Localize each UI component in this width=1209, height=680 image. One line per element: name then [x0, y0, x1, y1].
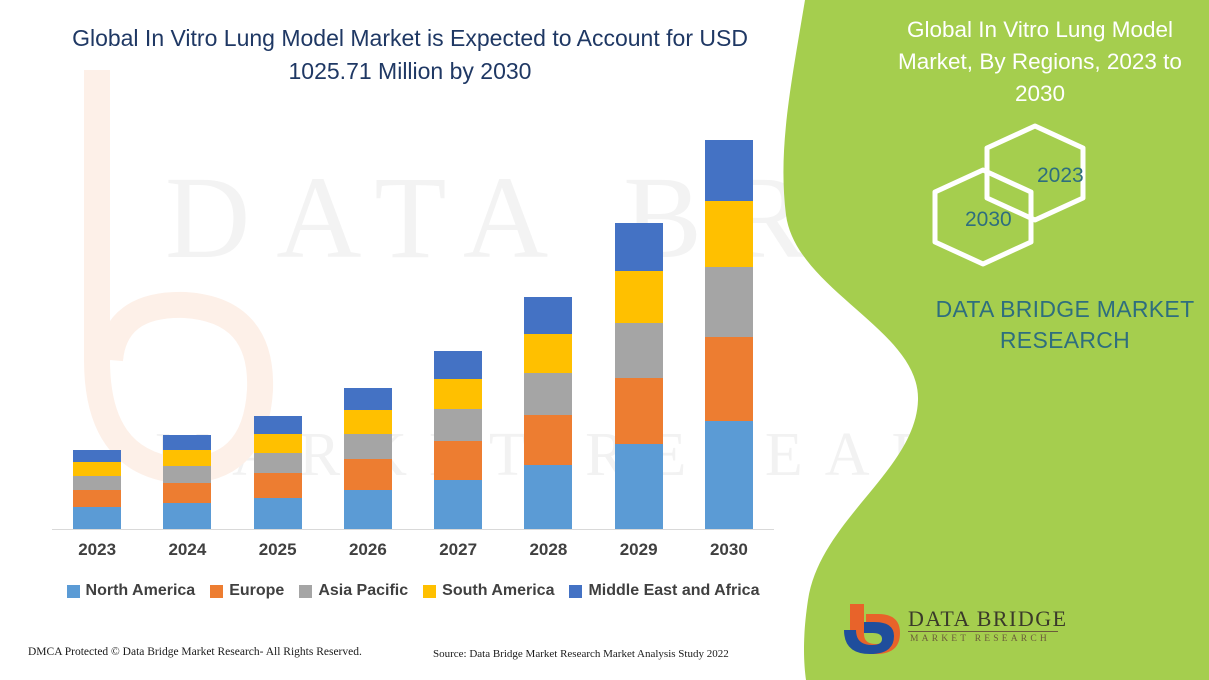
x-axis-label-2025: 2025 — [233, 540, 323, 560]
bar-segment — [344, 490, 392, 529]
x-axis-label-2028: 2028 — [503, 540, 593, 560]
bar-segment — [73, 462, 121, 475]
hexagon-label-2030: 2030 — [965, 208, 1012, 232]
x-axis-label-2029: 2029 — [594, 540, 684, 560]
legend-label: Asia Pacific — [318, 582, 408, 600]
bar-segment — [434, 409, 482, 441]
stacked-bar-2027 — [434, 351, 482, 529]
bar-column — [594, 223, 684, 529]
stacked-bar-2030 — [705, 140, 753, 529]
stacked-bar-2024 — [163, 435, 211, 529]
bar-segment — [434, 379, 482, 409]
bar-segment — [254, 498, 302, 529]
panel-title: Global In Vitro Lung Model Market, By Re… — [880, 14, 1200, 110]
bar-segment — [344, 434, 392, 459]
page-title: Global In Vitro Lung Model Market is Exp… — [40, 22, 780, 88]
bar-segment — [254, 434, 302, 453]
stacked-bar-2026 — [344, 388, 392, 529]
bar-segment — [705, 421, 753, 529]
legend-item-north-america[interactable]: North America — [67, 582, 196, 600]
bar-segment — [524, 373, 572, 415]
infographic-root: DATA BRIDGE MARKET RESEARCH Global In Vi… — [0, 0, 1209, 680]
bar-segment — [705, 140, 753, 201]
legend-label: Middle East and Africa — [588, 582, 759, 600]
bar-segment — [615, 271, 663, 323]
bar-segment — [524, 297, 572, 333]
bar-segment — [163, 483, 211, 503]
bar-segment — [73, 476, 121, 490]
bar-segment — [73, 490, 121, 507]
hexagon-badges — [925, 118, 1125, 273]
bar-segment — [73, 450, 121, 462]
bar-segment — [254, 473, 302, 498]
stacked-bar-2028 — [524, 297, 572, 529]
bar-segment — [73, 507, 121, 529]
logo-mark-icon — [840, 600, 902, 658]
bar-segment — [344, 410, 392, 434]
stacked-bar-2025 — [254, 416, 302, 529]
bar-column — [233, 416, 323, 529]
legend-label: South America — [442, 582, 554, 600]
legend-item-south-america[interactable]: South America — [423, 582, 554, 600]
stacked-bar-2023 — [73, 450, 121, 529]
bar-segment — [163, 450, 211, 466]
footer-copyright: DMCA Protected © Data Bridge Market Rese… — [28, 646, 362, 658]
bar-segment — [615, 323, 663, 378]
legend-swatch-icon — [67, 585, 80, 598]
legend-swatch-icon — [569, 585, 582, 598]
x-axis-label-2026: 2026 — [323, 540, 413, 560]
bar-segment — [615, 444, 663, 529]
legend-swatch-icon — [210, 585, 223, 598]
stacked-bar-2029 — [615, 223, 663, 529]
bar-chart-plot — [52, 140, 774, 529]
bar-segment — [615, 378, 663, 445]
logo-subtext: MARKET RESEARCH — [910, 634, 1050, 644]
chart-legend: North AmericaEuropeAsia PacificSouth Ame… — [52, 582, 774, 600]
bar-column — [52, 450, 142, 529]
bar-segment — [163, 435, 211, 450]
bar-column — [323, 388, 413, 529]
legend-item-europe[interactable]: Europe — [210, 582, 284, 600]
bar-segment — [163, 503, 211, 529]
x-axis-label-2024: 2024 — [142, 540, 232, 560]
bar-segment — [434, 480, 482, 529]
x-axis-labels: 20232024202520262027202820292030 — [52, 540, 774, 560]
bar-column — [413, 351, 503, 529]
bar-segment — [434, 441, 482, 480]
bar-segment — [705, 267, 753, 337]
logo-divider — [908, 631, 1058, 632]
legend-swatch-icon — [423, 585, 436, 598]
bar-segment — [524, 415, 572, 465]
logo-text: DATA BRIDGE — [908, 606, 1068, 632]
bar-segment — [254, 416, 302, 434]
bar-segment — [163, 466, 211, 483]
bar-segment — [705, 201, 753, 267]
legend-label: North America — [86, 582, 196, 600]
legend-swatch-icon — [299, 585, 312, 598]
x-axis-line — [52, 529, 774, 530]
bar-segment — [344, 388, 392, 410]
x-axis-label-2027: 2027 — [413, 540, 503, 560]
legend-item-middle-east-and-africa[interactable]: Middle East and Africa — [569, 582, 759, 600]
bar-segment — [434, 351, 482, 379]
bar-segment — [524, 465, 572, 529]
legend-item-asia-pacific[interactable]: Asia Pacific — [299, 582, 408, 600]
bar-column — [503, 297, 593, 529]
bar-column — [142, 435, 232, 529]
bar-segment — [524, 334, 572, 373]
bar-segment — [615, 223, 663, 271]
bar-segment — [705, 337, 753, 422]
data-bridge-logo: DATA BRIDGE MARKET RESEARCH — [840, 600, 1070, 660]
x-axis-label-2023: 2023 — [52, 540, 142, 560]
legend-label: Europe — [229, 582, 284, 600]
bar-segment — [254, 453, 302, 473]
brand-name: DATA BRIDGE MARKET RESEARCH — [900, 294, 1209, 356]
hexagon-label-2023: 2023 — [1037, 164, 1084, 188]
footer-source: Source: Data Bridge Market Research Mark… — [433, 648, 729, 660]
bar-segment — [344, 459, 392, 490]
